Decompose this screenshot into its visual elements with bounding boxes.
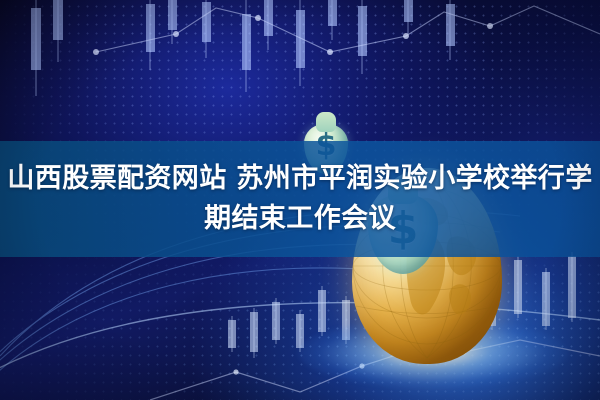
vignette-overlay xyxy=(0,0,600,400)
banner-image: $ $ 山西股票配资网站 苏州市平润实验小学校举行学 期结束工作会议 xyxy=(0,0,600,400)
